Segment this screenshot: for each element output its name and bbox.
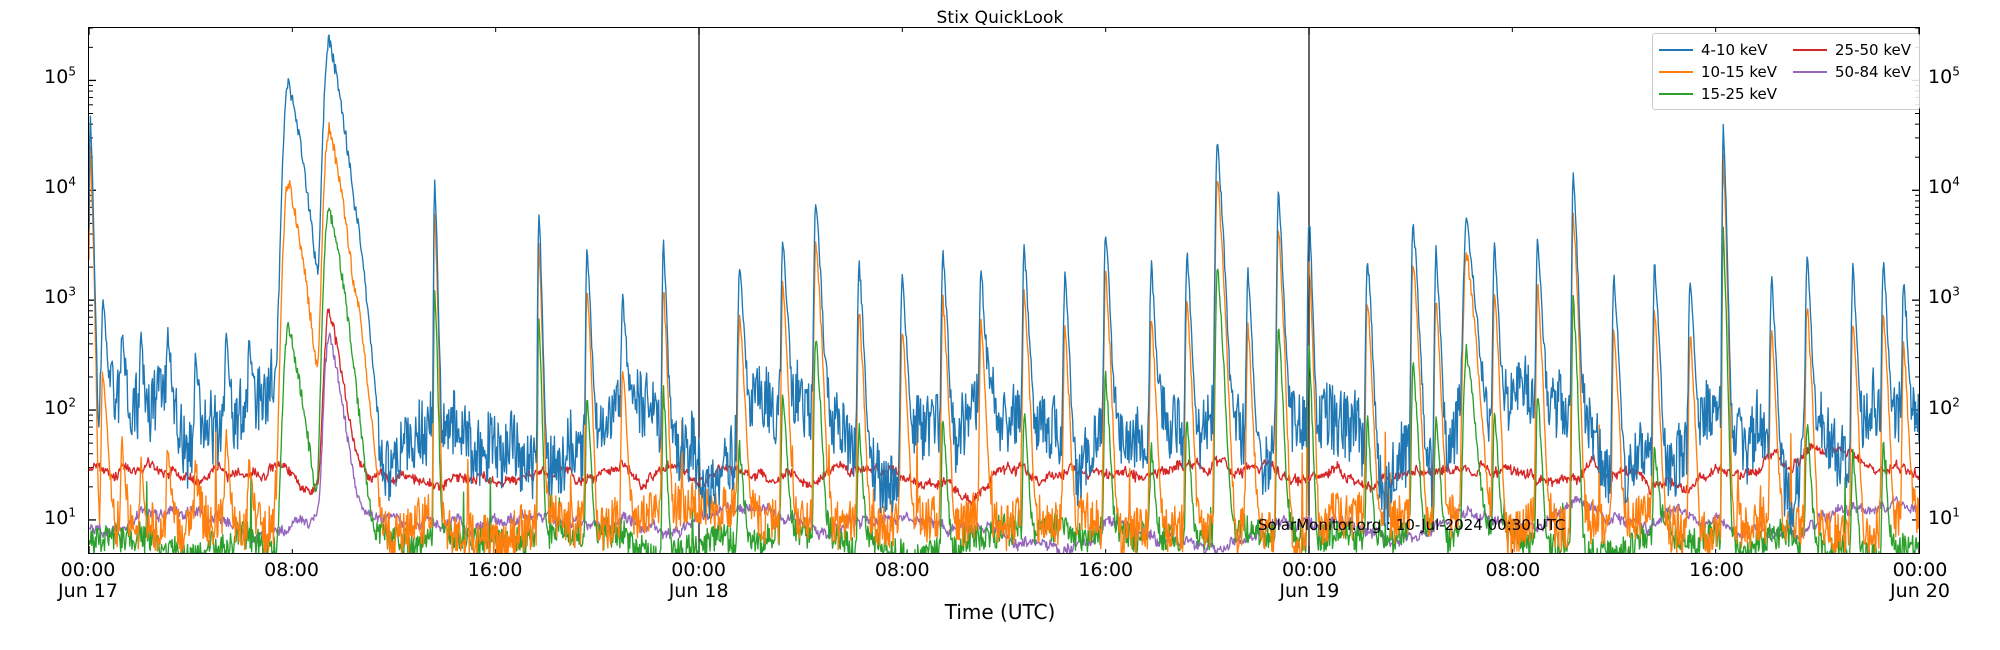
y-tick-label-r-0: 101 <box>1928 509 1960 528</box>
series-canvas <box>89 28 1919 553</box>
legend-swatch-icon <box>1793 71 1827 73</box>
legend-item-10-15-kev[interactable]: 10-15 keV <box>1659 61 1777 82</box>
legend-swatch-icon <box>1659 49 1693 51</box>
x-tick-label-1: 08:00 <box>264 560 319 581</box>
legend-label: 25-50 keV <box>1835 41 1911 59</box>
legend-item-50-84-kev[interactable]: 50-84 keV <box>1793 61 1911 82</box>
x-tick-label-3: 00:00Jun 18 <box>669 560 729 603</box>
x-tick-label-9: 00:00Jun 20 <box>1890 560 1950 603</box>
legend-label: 15-25 keV <box>1701 85 1777 103</box>
legend-swatch-icon <box>1659 93 1693 95</box>
y-tick-label-l-1: 102 <box>44 399 76 418</box>
y-tick-label-l-0: 101 <box>44 509 76 528</box>
page-title: Stix QuickLook <box>0 8 2000 28</box>
credit-annotation: SolarMonitor.org : 10-Jul-2024 00:30 UTC <box>1258 516 1565 534</box>
legend-label: 4-10 keV <box>1701 41 1767 59</box>
y-tick-label-r-2: 103 <box>1928 288 1960 307</box>
series-line-4-10-kev <box>89 35 1919 534</box>
x-axis-label: Time (UTC) <box>0 600 2000 624</box>
y-tick-label-l-2: 103 <box>44 288 76 307</box>
y-tick-label-r-3: 104 <box>1928 178 1960 197</box>
y-tick-label-l-3: 104 <box>44 178 76 197</box>
legend-swatch-icon <box>1793 49 1827 51</box>
x-tick-label-7: 08:00 <box>1485 560 1540 581</box>
x-tick-label-2: 16:00 <box>468 560 523 581</box>
y-tick-label-r-4: 105 <box>1928 68 1960 87</box>
x-tick-label-8: 16:00 <box>1689 560 1744 581</box>
x-tick-label-4: 08:00 <box>875 560 930 581</box>
y-tick-label-l-4: 105 <box>44 68 76 87</box>
x-tick-label-5: 16:00 <box>1078 560 1133 581</box>
legend[interactable]: 4-10 keV25-50 keV10-15 keV50-84 keV15-25… <box>1652 33 1920 110</box>
x-tick-label-0: 00:00Jun 17 <box>58 560 118 603</box>
legend-item-15-25-kev[interactable]: 15-25 keV <box>1659 83 1777 104</box>
stix-quicklook-chart: Stix QuickLook Counts Time (UTC) 1011021… <box>0 0 2000 650</box>
series-line-10-15-kev <box>89 123 1919 553</box>
y-tick-label-r-1: 102 <box>1928 399 1960 418</box>
legend-label: 10-15 keV <box>1701 63 1777 81</box>
legend-swatch-icon <box>1659 71 1693 73</box>
plot-area <box>88 27 1920 554</box>
legend-item-25-50-kev[interactable]: 25-50 keV <box>1793 39 1911 60</box>
legend-item-4-10-kev[interactable]: 4-10 keV <box>1659 39 1777 60</box>
x-tick-label-6: 00:00Jun 19 <box>1279 560 1339 603</box>
legend-label: 50-84 keV <box>1835 63 1911 81</box>
